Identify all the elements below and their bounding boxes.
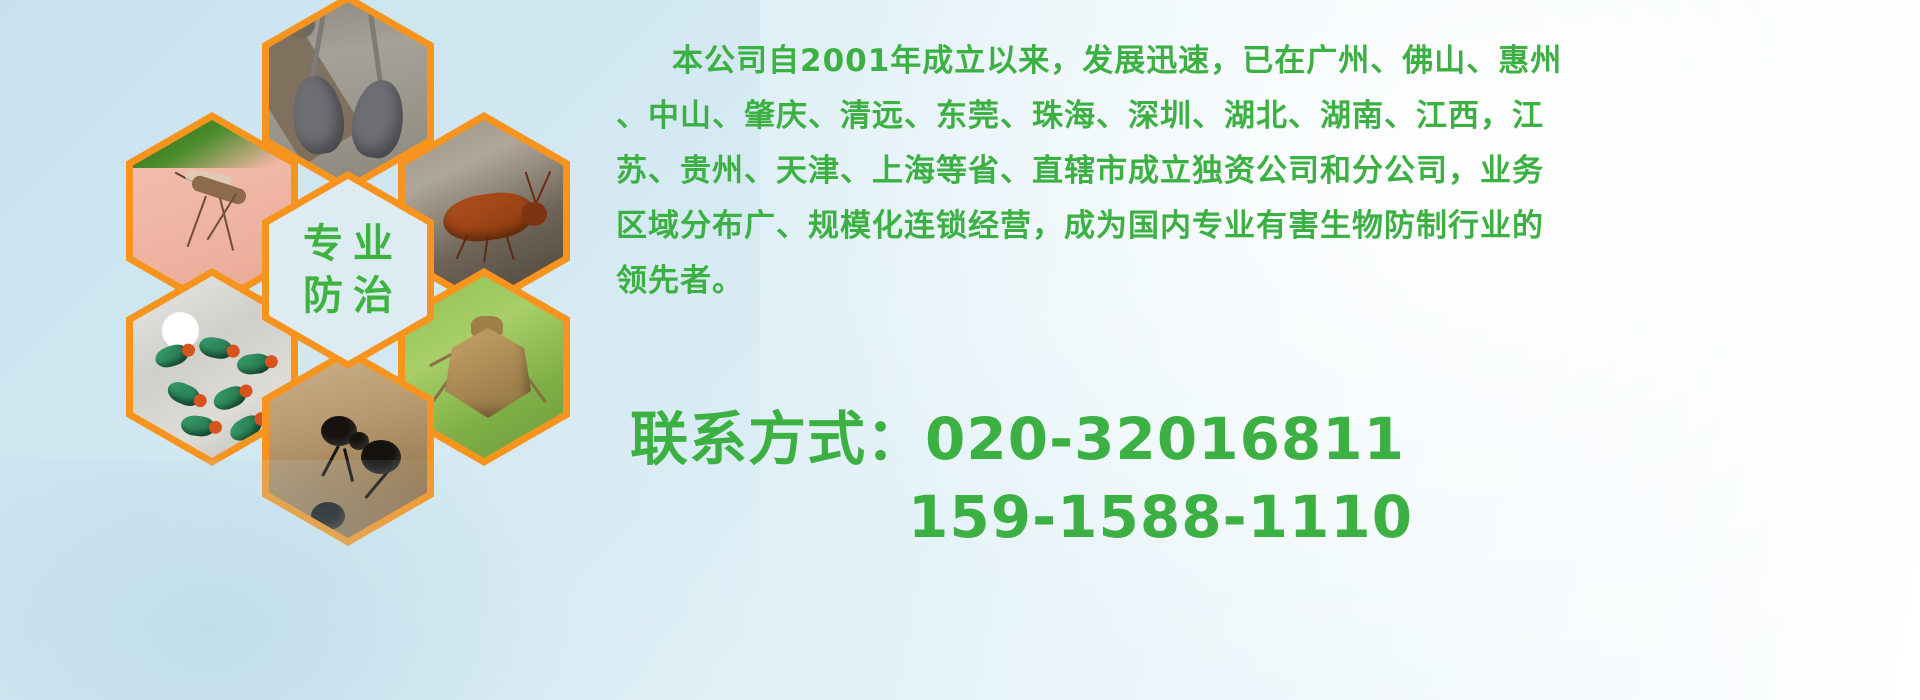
intro-line-3: 苏、贵州、天津、上海等省、直辖市成立独资公司和分公司，业务: [616, 144, 1900, 199]
intro-line-1: 本公司自2001年成立以来，发展迅速，已在广州、佛山、惠州: [616, 34, 1900, 89]
contact-phone-landline[interactable]: 联系方式：020-32016811: [616, 400, 1900, 478]
intro-line-2: 、中山、肇庆、清远、东莞、珠海、深圳、湖北、湖南、江西，江: [616, 89, 1900, 144]
ant-icon: [269, 356, 427, 538]
slogan-line-2: 防治: [293, 276, 403, 316]
intro-line-5: 领先者。: [616, 254, 1900, 309]
contact-block: 联系方式：020-32016811 159-1588-1110: [616, 400, 1900, 556]
hex-image-ant: [269, 356, 427, 538]
company-intro: 本公司自2001年成立以来，发展迅速，已在广州、佛山、惠州 、中山、肇庆、清远、…: [616, 34, 1900, 309]
slogan-panel: 专业 防治: [269, 179, 427, 361]
promo-banner: 专业 防治 本公司自2001年成立以来，发展迅速，已在广州、佛山、惠州 、中山、…: [0, 0, 1920, 700]
slogan-line-1: 专业: [293, 224, 403, 264]
intro-line-4: 区域分布广、规模化连锁经营，成为国内专业有害生物防制行业的: [616, 199, 1900, 254]
hex-image-rats: [269, 2, 427, 184]
honeycomb-gallery: 专业 防治: [86, 0, 586, 576]
contact-phone-mobile[interactable]: 159-1588-1110: [616, 478, 1900, 556]
rodent-icon: [269, 2, 427, 184]
intro-paragraph: 本公司自2001年成立以来，发展迅速，已在广州、佛山、惠州 、中山、肇庆、清远、…: [616, 34, 1900, 309]
